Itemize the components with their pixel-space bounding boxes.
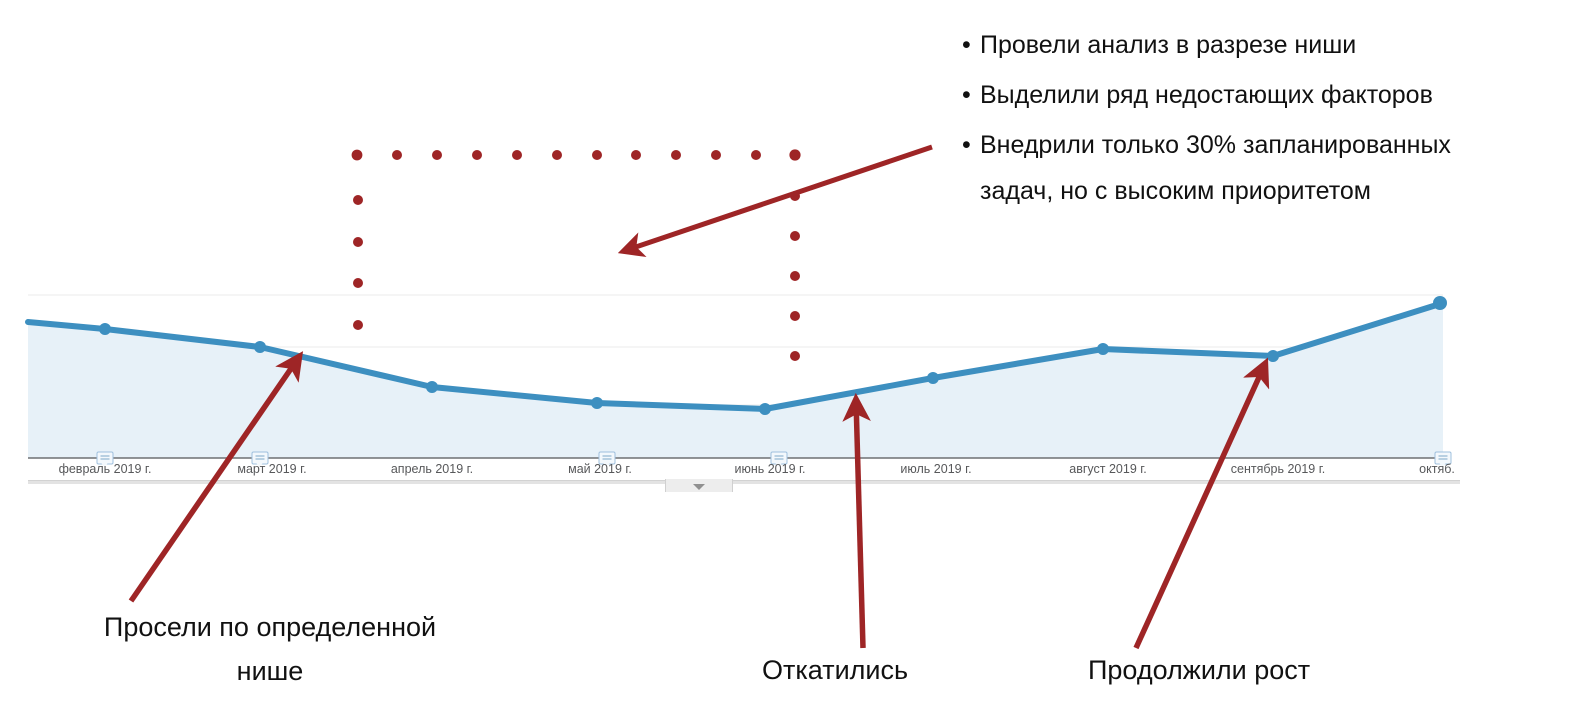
bullet-text: Внедрили только 30% запланированных зада… <box>980 122 1562 214</box>
x-axis-label: май 2019 г. <box>568 462 632 476</box>
scrollbar-track[interactable] <box>28 480 1460 484</box>
bracket-dot <box>552 150 562 160</box>
bullet-item: • Выделили ряд недостающих факторов <box>962 72 1562 118</box>
x-axis-label: июнь 2019 г. <box>734 462 805 476</box>
bullet-list: • Провели анализ в разрезе ниши • Выдели… <box>962 22 1562 218</box>
bracket-dot <box>353 195 363 205</box>
bracket-dot <box>790 191 800 201</box>
bullet-text: Выделили ряд недостающих факторов <box>980 72 1562 118</box>
x-axis-label: февраль 2019 г. <box>59 462 152 476</box>
bracket-dot <box>789 149 800 160</box>
callout-rollback: Откатились <box>762 648 908 692</box>
x-axis-label: июль 2019 г. <box>900 462 971 476</box>
bracket-dot <box>592 150 602 160</box>
x-axis-label: сентябрь 2019 г. <box>1231 462 1325 476</box>
bullet-marker-icon: • <box>962 122 980 214</box>
bullet-item: • Внедрили только 30% запланированных за… <box>962 122 1562 214</box>
bracket-dot <box>512 150 522 160</box>
bracket-dot <box>392 150 402 160</box>
bracket-dot <box>671 150 681 160</box>
bracket-dot <box>790 231 800 241</box>
x-axis-label: апрель 2019 г. <box>391 462 473 476</box>
x-axis-label: март 2019 г. <box>237 462 306 476</box>
chevron-down-icon[interactable] <box>693 484 705 490</box>
bullet-marker-icon: • <box>962 22 980 68</box>
arrow-to-bullets <box>624 147 932 251</box>
traffic-chart: февраль 2019 г. март 2019 г. апрель 2019… <box>0 270 1470 495</box>
bracket-dot <box>472 150 482 160</box>
bullet-marker-icon: • <box>962 72 980 118</box>
bracket-dot <box>432 150 442 160</box>
bracket-dot <box>711 150 721 160</box>
chart-horizontal-scrollbar[interactable] <box>28 479 1460 492</box>
callout-niche-drop: Просели по определенной нише <box>45 605 495 693</box>
x-axis-label: август 2019 г. <box>1069 462 1147 476</box>
bracket-dot <box>631 150 641 160</box>
bullet-text: Провели анализ в разрезе ниши <box>980 22 1562 68</box>
scrollbar-handle[interactable] <box>665 479 733 492</box>
callout-growth: Продолжили рост <box>1088 648 1310 692</box>
bracket-dot <box>751 150 761 160</box>
bracket-dot <box>353 237 363 247</box>
bracket-dot <box>352 150 363 161</box>
x-axis-label: октяб. <box>1419 462 1455 476</box>
bullet-item: • Провели анализ в разрезе ниши <box>962 22 1562 68</box>
slide-root: февраль 2019 г. март 2019 г. апрель 2019… <box>0 0 1570 725</box>
